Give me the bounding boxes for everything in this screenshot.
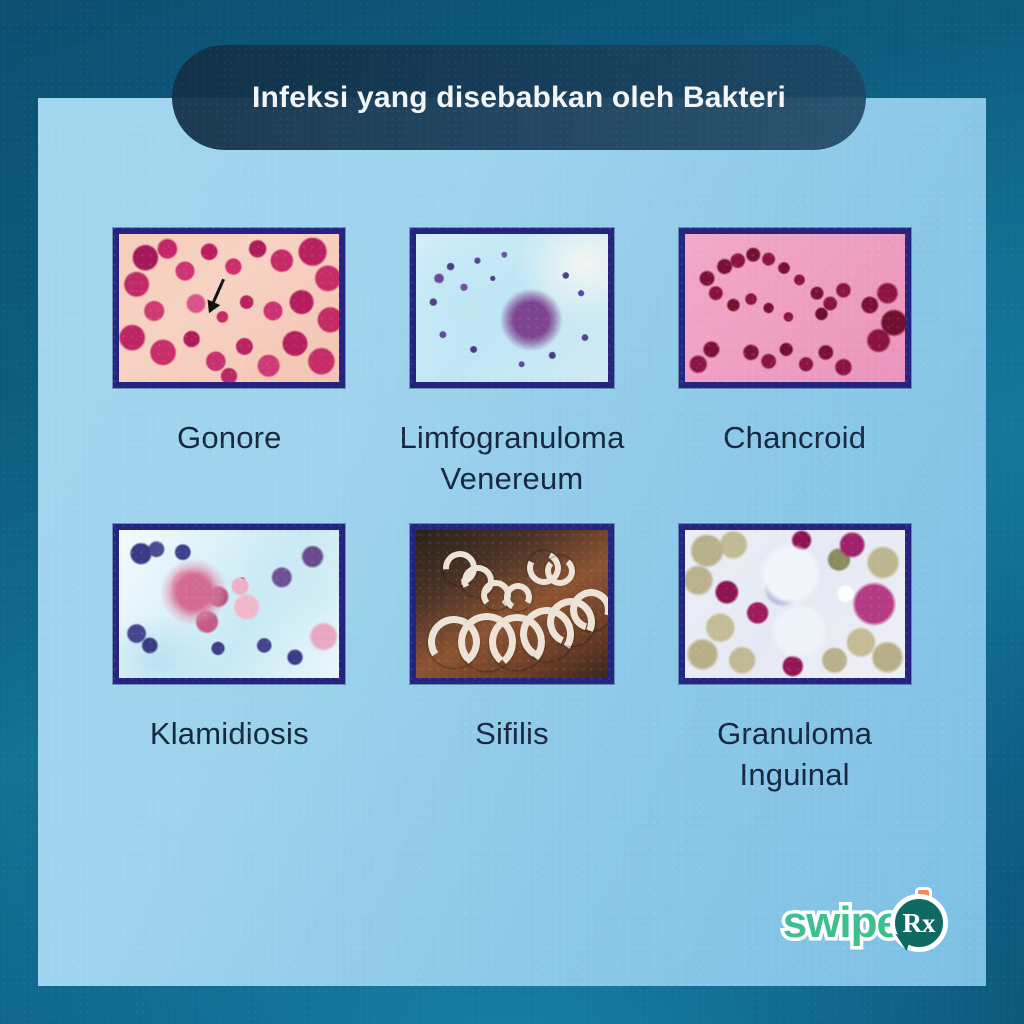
- caption-line-2: Inguinal: [717, 755, 872, 796]
- gram-stain-gonorrhea-micrograph: [119, 234, 339, 382]
- thumbnail-frame[interactable]: [410, 524, 614, 684]
- thumbnail-frame[interactable]: [679, 524, 911, 684]
- logo-speech-bubble-icon: Rx: [890, 894, 948, 952]
- caption-line-1: Klamidiosis: [150, 714, 309, 755]
- logo-rx-text: Rx: [903, 908, 936, 939]
- disease-grid: Gonore Limfogranuloma Venereum C: [88, 228, 936, 796]
- thumbnail-frame[interactable]: [113, 524, 345, 684]
- disease-card-klamidiosis[interactable]: Klamidiosis: [88, 524, 371, 796]
- disease-card-gonore[interactable]: Gonore: [88, 228, 371, 500]
- title-banner: Infeksi yang disebabkan oleh Bakteri: [172, 45, 866, 150]
- content-panel: Gonore Limfogranuloma Venereum C: [38, 98, 986, 986]
- arrow-pointer-icon: [210, 279, 225, 308]
- treponema-pallidum-spirochete-micrograph: [416, 530, 608, 678]
- swiperx-logo[interactable]: swipe Rx: [783, 894, 948, 952]
- infographic-poster: Gonore Limfogranuloma Venereum C: [0, 0, 1024, 1024]
- disease-caption: Gonore: [177, 418, 282, 459]
- donovan-bodies-micrograph: [685, 530, 905, 678]
- caption-line-1: Sifilis: [475, 714, 549, 755]
- thumbnail-frame[interactable]: [679, 228, 911, 388]
- caption-line-1: Limfogranuloma: [399, 418, 624, 459]
- thumbnail-frame[interactable]: [410, 228, 614, 388]
- caption-line-1: Chancroid: [723, 418, 866, 459]
- disease-caption: Klamidiosis: [150, 714, 309, 755]
- disease-card-granuloma-inguinal[interactable]: Granuloma Inguinal: [653, 524, 936, 796]
- disease-card-chancroid[interactable]: Chancroid: [653, 228, 936, 500]
- logo-wordmark: swipe: [783, 901, 900, 945]
- disease-caption: Sifilis: [475, 714, 549, 755]
- disease-caption: Limfogranuloma Venereum: [399, 418, 624, 500]
- chlamydia-lgv-inclusion-micrograph: [416, 234, 608, 382]
- caption-line-1: Gonore: [177, 418, 282, 459]
- disease-caption: Granuloma Inguinal: [717, 714, 872, 796]
- thumbnail-frame[interactable]: [113, 228, 345, 388]
- disease-card-limfogranuloma-venereum[interactable]: Limfogranuloma Venereum: [371, 228, 654, 500]
- caption-line-2: Venereum: [399, 459, 624, 500]
- disease-caption: Chancroid: [723, 418, 866, 459]
- haemophilus-ducreyi-chains-micrograph: [685, 234, 905, 382]
- caption-line-1: Granuloma: [717, 714, 872, 755]
- page-title: Infeksi yang disebabkan oleh Bakteri: [252, 81, 786, 115]
- chlamydia-pap-smear-micrograph: [119, 530, 339, 678]
- disease-card-sifilis[interactable]: Sifilis: [371, 524, 654, 796]
